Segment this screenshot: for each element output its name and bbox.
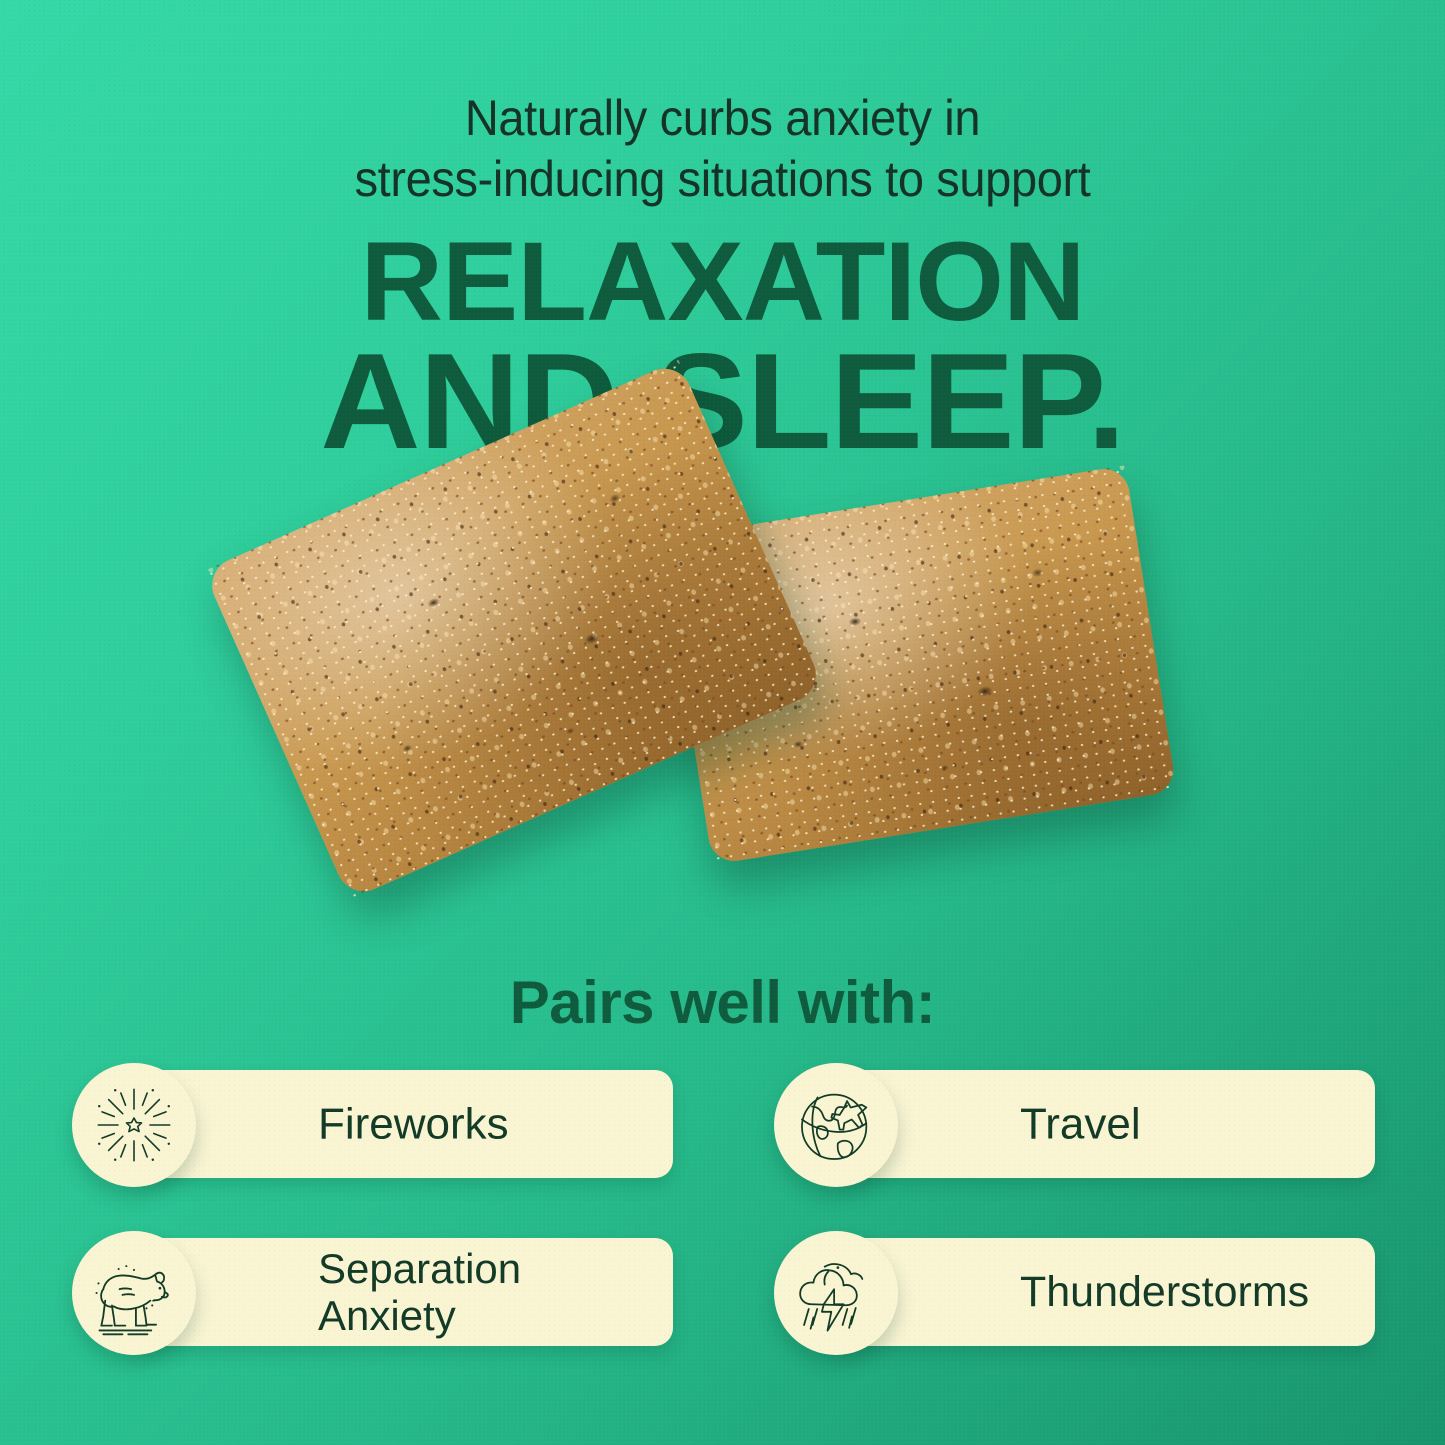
feature-pill-thunderstorms: Thunderstorms (830, 1238, 1375, 1346)
subheading-line-2: stress-inducing situations to support (43, 149, 1401, 210)
globe-airplane-icon (774, 1063, 898, 1187)
fireworks-icon (72, 1063, 196, 1187)
storm-cloud-icon (774, 1231, 898, 1355)
subheading-line-1: Naturally curbs anxiety in (43, 88, 1401, 149)
feature-label-fireworks: Fireworks (318, 1099, 509, 1148)
subheading: Naturally curbs anxiety in stress-induci… (43, 88, 1401, 210)
pairs-well-with-title: Pairs well with: (0, 968, 1445, 1037)
dog-icon (72, 1231, 196, 1355)
headline: RELAXATION AND SLEEP. (0, 228, 1445, 466)
feature-pill-fireworks: Fireworks (128, 1070, 673, 1178)
feature-pill-separation-anxiety: Separation Anxiety (128, 1238, 673, 1346)
feature-label-thunderstorms: Thunderstorms (1020, 1268, 1309, 1316)
headline-line-1: RELAXATION (0, 228, 1445, 336)
feature-pill-travel: Travel (830, 1070, 1375, 1178)
feature-label-travel: Travel (1020, 1099, 1141, 1148)
feature-label-separation-anxiety: Separation Anxiety (318, 1245, 521, 1339)
product-photo (232, 432, 1242, 972)
product-infographic: Naturally curbs anxiety in stress-induci… (0, 0, 1445, 1445)
